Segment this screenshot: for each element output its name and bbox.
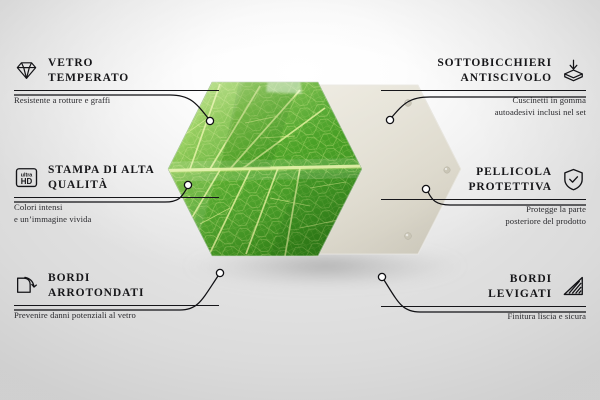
feature-bordi-arrotondati: BORDI ARROTONDATI Prevenire danni potenz… <box>14 271 219 322</box>
shield-check-icon <box>561 167 586 192</box>
product-infographic: VETRO TEMPERATO Resistente a rotture e g… <box>0 0 600 400</box>
ultra-hd-icon: ultra HD <box>14 165 39 190</box>
feature-stampa-alta-qualita: ultra HD STAMPA DI ALTA QUALITÀ Colori i… <box>14 163 219 226</box>
feature-title-line1: BORDI <box>48 271 144 286</box>
feature-heading: PELLICOLA PROTETTIVA <box>381 165 586 194</box>
feature-title: SOTTOBICCHIERI ANTISCIVOLO <box>437 56 552 85</box>
feature-title-line2: ANTISCIVOLO <box>437 71 552 86</box>
feature-bordi-levigati: BORDI LEVIGATI Finitura liscia e sicura <box>381 272 586 323</box>
feature-title-line2: ARROTONDATI <box>48 286 144 301</box>
feature-sottobicchieri-antiscivolo: SOTTOBICCHIERI ANTISCIVOLO Cuscinetti in… <box>381 56 586 119</box>
feature-divider <box>14 197 219 198</box>
feature-heading: SOTTOBICCHIERI ANTISCIVOLO <box>381 56 586 85</box>
feature-title-line1: VETRO <box>48 56 129 71</box>
feature-heading: VETRO TEMPERATO <box>14 56 219 85</box>
feature-title-line2: PROTETTIVA <box>468 180 552 195</box>
feature-title: VETRO TEMPERATO <box>48 56 129 85</box>
polished-edge-icon <box>561 274 586 299</box>
feature-title: BORDI ARROTONDATI <box>48 271 144 300</box>
feature-subtitle-line1: Resistente a rotture e graffi <box>14 95 219 107</box>
feature-heading: ultra HD STAMPA DI ALTA QUALITÀ <box>14 163 219 192</box>
feature-title-line2: TEMPERATO <box>48 71 129 86</box>
feature-pellicola-protettiva: PELLICOLA PROTETTIVA Protegge la parte p… <box>381 165 586 228</box>
feature-heading: BORDI ARROTONDATI <box>14 271 219 300</box>
feature-title-line2: LEVIGATI <box>488 287 552 302</box>
feature-subtitle: Cuscinetti in gomma autoadesivi inclusi … <box>381 95 586 118</box>
diamond-icon <box>14 58 39 83</box>
feature-subtitle-line1: Colori intensi <box>14 202 219 214</box>
rounded-corner-icon <box>14 273 39 298</box>
feature-title-line1: SOTTOBICCHIERI <box>437 56 552 71</box>
feature-subtitle-line1: Prevenire danni potenziali al vetro <box>14 310 219 322</box>
non-slip-pad-icon <box>561 58 586 83</box>
feature-divider <box>14 305 219 306</box>
feature-divider <box>381 306 586 307</box>
feature-title: STAMPA DI ALTA QUALITÀ <box>48 163 155 192</box>
feature-subtitle: Resistente a rotture e graffi <box>14 95 219 107</box>
feature-subtitle: Protegge la parte posteriore del prodott… <box>381 204 586 227</box>
feature-vetro-temperato: VETRO TEMPERATO Resistente a rotture e g… <box>14 56 219 107</box>
feature-title: BORDI LEVIGATI <box>488 272 552 301</box>
feature-title-line1: STAMPA DI ALTA <box>48 163 155 178</box>
feature-divider <box>381 199 586 200</box>
feature-subtitle-line1: Cuscinetti in gomma <box>381 95 586 107</box>
feature-title-line2: QUALITÀ <box>48 178 155 193</box>
feature-title: PELLICOLA PROTETTIVA <box>468 165 552 194</box>
ultra-hd-icon-label-bottom: HD <box>21 177 33 186</box>
feature-divider <box>14 90 219 91</box>
feature-subtitle: Colori intensi e un’immagine vivida <box>14 202 219 225</box>
feature-subtitle: Prevenire danni potenziali al vetro <box>14 310 219 322</box>
feature-subtitle: Finitura liscia e sicura <box>381 311 586 323</box>
feature-divider <box>381 90 586 91</box>
feature-title-line1: PELLICOLA <box>468 165 552 180</box>
feature-subtitle-line2: posteriore del prodotto <box>381 216 586 228</box>
feature-subtitle-line1: Finitura liscia e sicura <box>381 311 586 323</box>
feature-subtitle-line1: Protegge la parte <box>381 204 586 216</box>
feature-title-line1: BORDI <box>488 272 552 287</box>
feature-subtitle-line2: autoadesivi inclusi nel set <box>381 107 586 119</box>
feature-subtitle-line2: e un’immagine vivida <box>14 214 219 226</box>
feature-heading: BORDI LEVIGATI <box>381 272 586 301</box>
